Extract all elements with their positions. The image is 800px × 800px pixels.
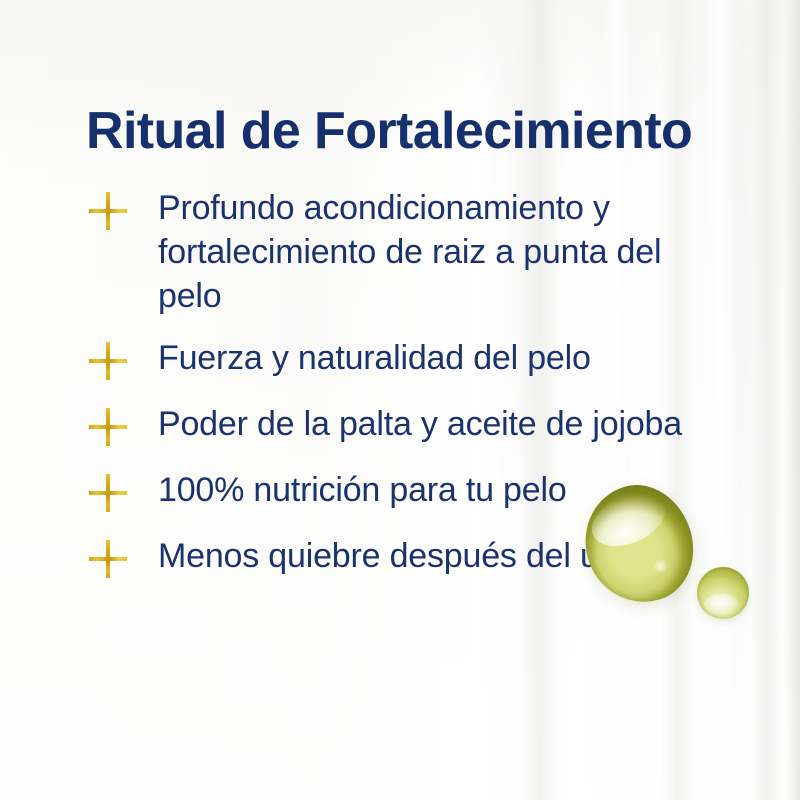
list-item: Profundo acondicionamiento y fortalecimi… — [86, 186, 686, 318]
benefit-text: Poder de la palta y aceite de jojoba — [158, 402, 686, 446]
product-benefits-panel: Ritual de Fortalecimiento Profundo acond… — [0, 0, 800, 800]
plus-icon — [86, 536, 132, 582]
plus-icon — [86, 470, 132, 516]
benefit-text: Fuerza y naturalidad del pelo — [158, 336, 686, 380]
plus-icon — [86, 404, 132, 450]
plus-icon — [86, 338, 132, 384]
benefit-text: Profundo acondicionamiento y fortalecimi… — [158, 186, 686, 318]
plus-icon-vertical-bar — [106, 342, 110, 380]
list-item: Fuerza y naturalidad del pelo — [86, 336, 686, 384]
droplet-highlight — [704, 594, 739, 615]
oil-droplet-small — [697, 567, 749, 619]
plus-icon-vertical-bar — [106, 540, 110, 578]
list-item: Poder de la palta y aceite de jojoba — [86, 402, 686, 450]
plus-icon-vertical-bar — [106, 192, 110, 230]
page-title: Ritual de Fortalecimiento — [86, 101, 692, 161]
plus-icon-vertical-bar — [106, 408, 110, 446]
plus-icon — [86, 188, 132, 234]
plus-icon-vertical-bar — [106, 474, 110, 512]
